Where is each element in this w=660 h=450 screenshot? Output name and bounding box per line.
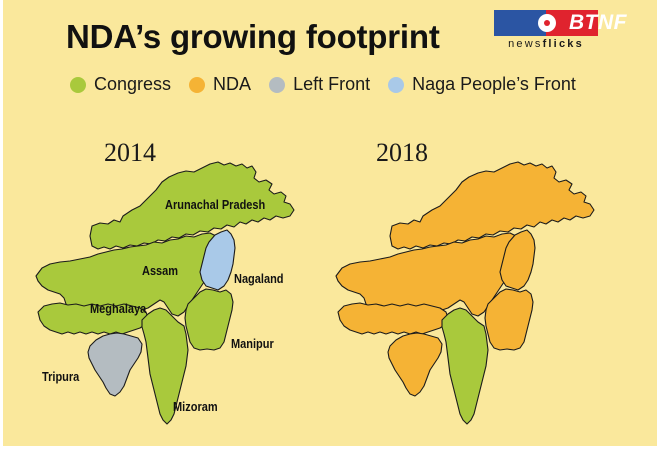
logo-nf-text: NF (598, 11, 627, 34)
legend-dot-icon-congress (70, 77, 86, 93)
legend-dot-icon-nda (189, 77, 205, 93)
legend-dot-icon-left-front (269, 77, 285, 93)
state-mizoram-2018 (442, 308, 488, 424)
logo-wordmark-light: news (508, 38, 542, 50)
state-label-nagaland-2014: Nagaland (234, 272, 284, 286)
legend-item-left-front: Left Front (269, 74, 370, 95)
map-2018: 2018 (318, 128, 638, 443)
state-label-mizoram-2014: Mizoram (173, 400, 218, 414)
state-label-meghalaya-2014: Meghalaya (90, 302, 146, 316)
legend-item-naga-peoples-front: Naga People’s Front (388, 74, 576, 95)
state-label-arunachal-pradesh-2014: Arunachal Pradesh (165, 198, 265, 212)
state-tripura-2018 (388, 333, 442, 396)
state-meghalaya-2018 (338, 303, 448, 334)
infographic-page: NDA’s growing footprint BTNF newsflicks … (0, 0, 660, 450)
legend-item-congress: Congress (70, 74, 171, 95)
logo-wordmark-bold: flicks (543, 38, 584, 50)
logo-wordmark: newsflicks (494, 38, 598, 50)
state-label-assam-2014: Assam (142, 264, 178, 278)
page-title: NDA’s growing footprint (66, 18, 440, 56)
legend-label-left-front: Left Front (293, 74, 370, 95)
logo-letters: BTNF (546, 10, 650, 36)
map-svg-2018 (318, 128, 638, 443)
legend-label-congress: Congress (94, 74, 171, 95)
state-arunachal-pradesh-2018 (390, 162, 594, 249)
state-label-tripura-2014: Tripura (42, 370, 79, 384)
state-tripura-2014 (88, 333, 142, 396)
legend-dot-icon-naga-peoples-front (388, 77, 404, 93)
legend: Congress NDA Left Front Naga People’s Fr… (70, 74, 576, 95)
legend-label-nda: NDA (213, 74, 251, 95)
state-label-manipur-2014: Manipur (231, 337, 274, 351)
logo-circle-center-icon (544, 20, 550, 26)
brand-logo: BTNF newsflicks (494, 10, 598, 50)
legend-item-nda: NDA (189, 74, 251, 95)
logo-mark: BTNF (494, 10, 598, 36)
map-2014: 2014 Arunachal Pradesh Assam Meghalaya N… (28, 128, 328, 443)
logo-bt-text: BT (569, 11, 598, 34)
legend-label-naga-peoples-front: Naga People’s Front (412, 74, 576, 95)
